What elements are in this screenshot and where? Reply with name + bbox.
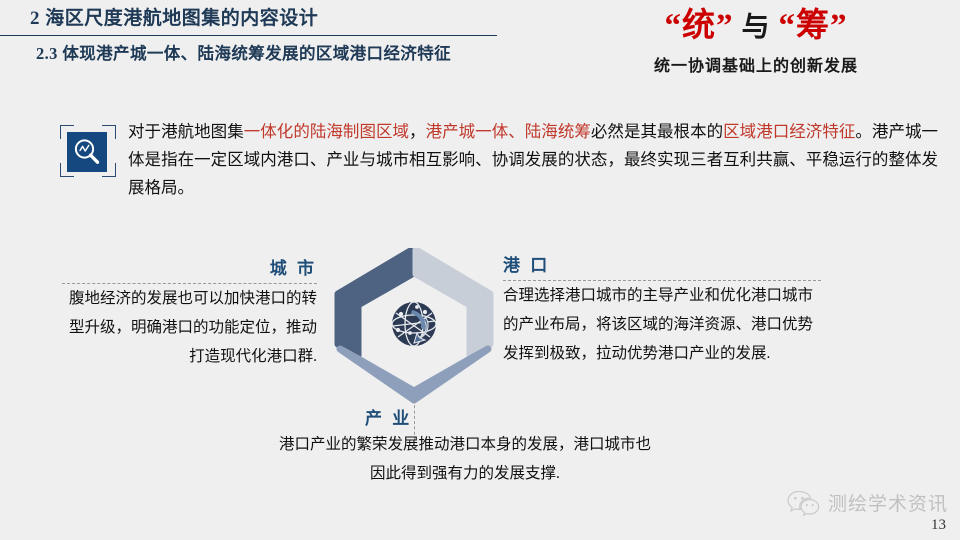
intro-text-part-3: 必然是其最根本的 <box>591 122 723 141</box>
diagram-node-city: 城 市 腹地经济的发展也可以加快港口的转型升级，明确港口的功能定位，推动打造现代… <box>62 258 317 371</box>
diagram-node-industry: 产 业 港口产业的繁荣发展推动港口本身的发展，港口城市也因此得到强有力的发展支撑… <box>275 408 655 488</box>
intro-highlight-1: 一体化的陆海制图区域 <box>244 122 409 141</box>
magnifier-icon-background <box>67 132 107 172</box>
brand-word-tong: “统” <box>664 8 733 44</box>
hexagon-svg <box>330 248 498 404</box>
intro-section: 对于港航地图集一体化的陆海制图区域，港产城一体、陆海统筹必然是其最根本的区域港口… <box>58 118 938 202</box>
page-subtitle: 2.3 体现港产城一体、陆海统筹发展的区域港口经济特征 <box>0 42 560 66</box>
intro-text-part-1: 对于港航地图集 <box>128 122 244 141</box>
globe-network-arrow-icon <box>392 302 436 346</box>
node-body-city: 腹地经济的发展也可以加快港口的转型升级，明确港口的功能定位，推动打造现代化港口群… <box>62 284 317 371</box>
node-body-industry: 港口产业的繁荣发展推动港口本身的发展，港口城市也因此得到强有力的发展支撑. <box>275 430 655 488</box>
magnifier-chart-icon <box>58 124 120 182</box>
node-label-city: 城 市 <box>62 258 317 280</box>
slide-header: 2 海区尺度港航地图集的内容设计 2.3 体现港产城一体、陆海统筹发展的区域港口… <box>0 6 560 66</box>
brand-title-line: “统”与“筹” <box>576 4 936 50</box>
brand-title-block: “统”与“筹” 统一协调基础上的创新发展 <box>576 4 936 76</box>
page-title: 2 海区尺度港航地图集的内容设计 <box>0 6 560 32</box>
page-number: 13 <box>931 517 946 534</box>
brand-word-chou: “筹” <box>779 8 848 44</box>
diagram-node-port: 港 口 合理选择港口城市的主导产业和优化港口城市的产业布局，将该区域的海洋资源、… <box>503 255 821 368</box>
brand-connector: 与 <box>741 12 770 43</box>
intro-paragraph: 对于港航地图集一体化的陆海制图区域，港产城一体、陆海统筹必然是其最根本的区域港口… <box>128 118 938 202</box>
node-label-industry: 产 业 <box>275 408 655 430</box>
brand-subtitle: 统一协调基础上的创新发展 <box>576 52 936 76</box>
hexagon-diagram <box>330 248 498 404</box>
hex-segment-bottom <box>340 349 488 400</box>
intro-text-part-2: ， <box>409 122 426 141</box>
intro-highlight-3: 区域港口经济特征 <box>723 122 855 141</box>
watermark: 测绘学术资讯 <box>787 489 948 516</box>
wechat-icon <box>787 490 821 516</box>
magnifier-glyph <box>67 132 107 172</box>
watermark-label: 测绘学术资讯 <box>828 489 948 516</box>
node-body-port: 合理选择港口城市的主导产业和优化港口城市的产业布局，将该区域的海洋资源、港口优势… <box>503 281 821 368</box>
header-divider <box>0 35 497 36</box>
node-label-port: 港 口 <box>503 255 821 277</box>
intro-highlight-2: 港产城一体、陆海统筹 <box>426 122 591 141</box>
